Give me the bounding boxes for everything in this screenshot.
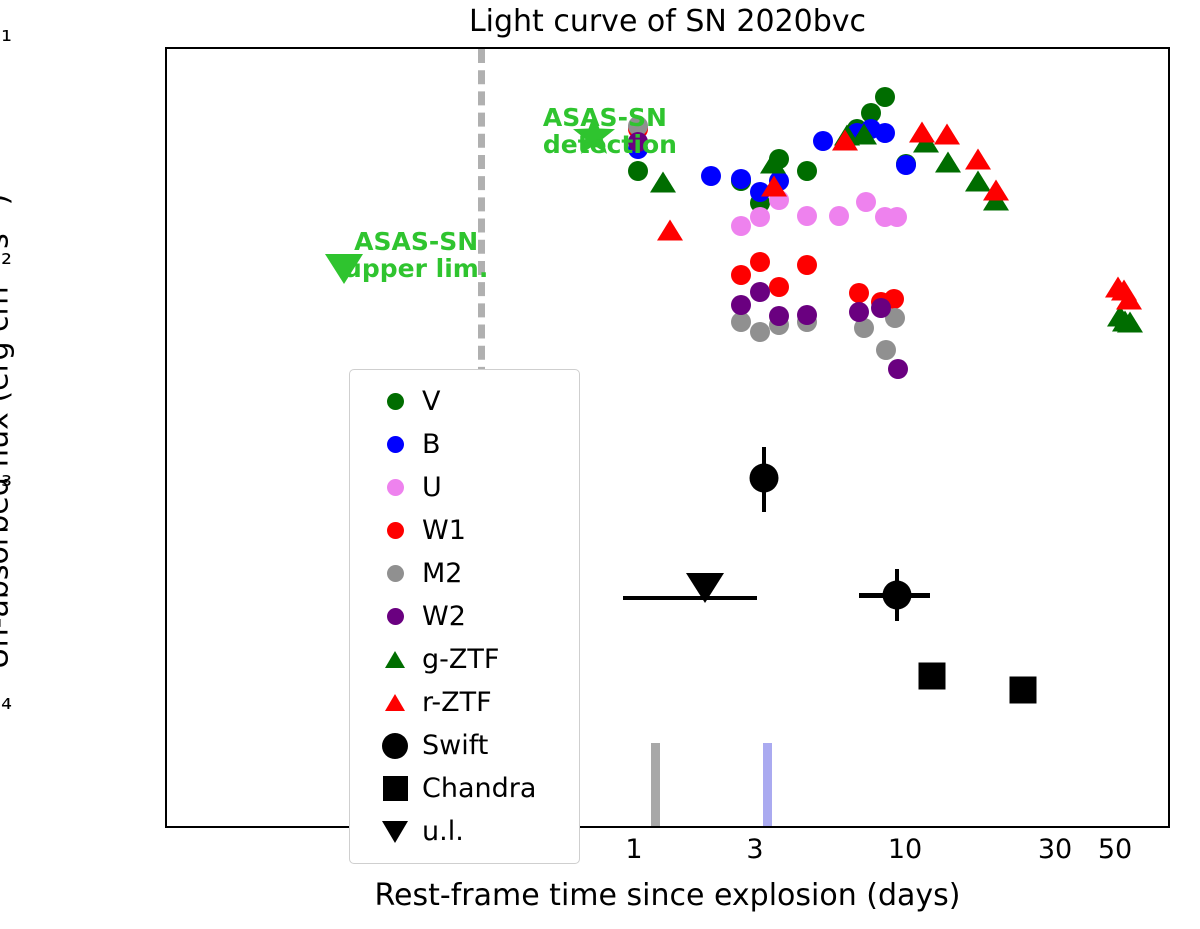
legend-item-label: M2 bbox=[422, 558, 462, 589]
data-point-Chandra bbox=[918, 663, 945, 690]
data-point-Swift bbox=[749, 464, 778, 493]
x-tick-label: 1 bbox=[625, 836, 642, 863]
data-point-B bbox=[731, 169, 751, 189]
data-point-M2 bbox=[731, 312, 751, 332]
legend-item-label: Swift bbox=[422, 730, 488, 761]
legend-glyph bbox=[387, 522, 404, 539]
legend-item-label: V bbox=[422, 386, 440, 417]
light-curve-figure: Light curve of SN 2020bvc Un-absorbed fl… bbox=[0, 0, 1200, 929]
data-point-W1 bbox=[849, 283, 869, 303]
legend-item-label: Chandra bbox=[422, 773, 536, 804]
legend-marker-circle-icon bbox=[368, 479, 422, 496]
y-tick-label: 10⁻¹¹ bbox=[0, 28, 12, 55]
data-point-r-ZTF bbox=[983, 179, 1009, 200]
data-point-r-ZTF bbox=[965, 148, 991, 169]
legend-item-label: B bbox=[422, 429, 441, 460]
chandra-obs-bar bbox=[763, 743, 772, 826]
legend-item-label: W2 bbox=[422, 601, 466, 632]
data-point-g-ZTF bbox=[650, 171, 676, 192]
data-point-W2 bbox=[871, 298, 891, 318]
data-point-W1 bbox=[797, 255, 817, 275]
legend-item-label: g-ZTF bbox=[422, 644, 499, 675]
y-axis-label: Un-absorbed flux (erg cm⁻² s⁻¹) bbox=[0, 0, 16, 882]
data-point-U bbox=[731, 216, 751, 236]
data-point-r-ZTF bbox=[657, 219, 683, 240]
data-point-U bbox=[750, 207, 770, 227]
legend-marker-triangle-up-icon bbox=[368, 651, 422, 668]
legend-item-m2[interactable]: M2 bbox=[350, 552, 579, 595]
asassn-upper-limit: ASAS-SN upper lim. bbox=[344, 229, 488, 283]
legend-glyph bbox=[385, 651, 405, 668]
legend-item-chandra[interactable]: Chandra bbox=[350, 767, 579, 810]
legend-item-v[interactable]: V bbox=[350, 380, 579, 423]
legend-item-r-ztf[interactable]: r-ZTF bbox=[350, 681, 579, 724]
legend-item-u[interactable]: U bbox=[350, 466, 579, 509]
data-point-W2 bbox=[750, 282, 770, 302]
legend-glyph bbox=[385, 694, 405, 711]
data-point-W1 bbox=[750, 252, 770, 272]
data-point-W1 bbox=[731, 265, 751, 285]
data-point-u.l. bbox=[686, 573, 724, 603]
legend-glyph bbox=[387, 608, 404, 625]
legend-glyph bbox=[383, 776, 408, 801]
legend-marker-circle-icon bbox=[368, 608, 422, 625]
data-point-M2 bbox=[750, 322, 770, 342]
data-point-W2 bbox=[769, 306, 789, 326]
x-tick-label: 50 bbox=[1098, 836, 1132, 863]
data-point-W1 bbox=[769, 277, 789, 297]
data-point-r-ZTF bbox=[1116, 288, 1142, 309]
asassn-detection: ASAS-SN detection bbox=[543, 105, 677, 159]
legend-item-label: W1 bbox=[422, 515, 466, 546]
legend-item-label: U bbox=[422, 472, 442, 503]
legend-marker-triangle-down-icon bbox=[368, 821, 422, 843]
data-point-B bbox=[701, 166, 721, 186]
data-point-W2 bbox=[731, 295, 751, 315]
data-point-Chandra bbox=[1009, 676, 1036, 703]
data-point-U bbox=[829, 206, 849, 226]
legend-marker-triangle-up-icon bbox=[368, 694, 422, 711]
data-point-W2 bbox=[797, 305, 817, 325]
y-tick-label: 10⁻¹⁴ bbox=[0, 696, 12, 723]
legend-glyph bbox=[387, 565, 404, 582]
legend-item-label: u.l. bbox=[422, 816, 464, 847]
data-point-g-ZTF bbox=[935, 151, 961, 172]
y-tick-label: 10⁻¹³ bbox=[0, 473, 12, 500]
legend-glyph bbox=[382, 821, 408, 843]
data-point-r-ZTF bbox=[832, 129, 858, 150]
legend-item-w1[interactable]: W1 bbox=[350, 509, 579, 552]
legend-item-label: r-ZTF bbox=[422, 687, 492, 718]
y-tick-label: 10⁻¹² bbox=[0, 251, 12, 278]
data-point-B bbox=[875, 123, 895, 143]
legend-marker-circle-icon bbox=[368, 522, 422, 539]
legend-item-g-ztf[interactable]: g-ZTF bbox=[350, 638, 579, 681]
legend-marker-circle-icon bbox=[368, 393, 422, 410]
x-tick-label: 3 bbox=[746, 836, 763, 863]
page-title: Light curve of SN 2020bvc bbox=[165, 4, 1170, 39]
plot-area: February 4.0 UT ASAS-SN detectionASAS-SN… bbox=[167, 49, 1168, 826]
legend-glyph bbox=[387, 479, 404, 496]
data-point-V bbox=[797, 161, 817, 181]
data-point-M2 bbox=[876, 340, 896, 360]
legend-marker-circle-icon bbox=[368, 733, 422, 759]
legend-item-b[interactable]: B bbox=[350, 423, 579, 466]
data-point-r-ZTF bbox=[761, 176, 787, 197]
legend-marker-square-icon bbox=[368, 776, 422, 801]
legend-item-u-l-[interactable]: u.l. bbox=[350, 810, 579, 853]
data-point-Swift bbox=[882, 581, 911, 610]
legend-glyph bbox=[387, 393, 404, 410]
data-point-V bbox=[628, 161, 648, 181]
data-point-W2 bbox=[888, 359, 908, 379]
x-tick-label: 30 bbox=[1038, 836, 1072, 863]
x-tick-label: 10 bbox=[888, 836, 922, 863]
data-point-g-ZTF bbox=[1117, 311, 1143, 332]
x-axis-label: Rest-frame time since explosion (days) bbox=[165, 878, 1170, 913]
data-point-r-ZTF bbox=[934, 124, 960, 145]
data-point-r-ZTF bbox=[909, 122, 935, 143]
data-point-W2 bbox=[849, 302, 869, 322]
data-point-B bbox=[896, 155, 916, 175]
data-point-U bbox=[797, 206, 817, 226]
legend-glyph bbox=[382, 733, 408, 759]
legend-item-w2[interactable]: W2 bbox=[350, 595, 579, 638]
legend[interactable]: VBUW1M2W2g-ZTFr-ZTFSwiftChandrau.l. bbox=[349, 369, 580, 864]
data-point-U bbox=[887, 207, 907, 227]
data-point-B bbox=[813, 131, 833, 151]
legend-item-swift[interactable]: Swift bbox=[350, 724, 579, 767]
legend-glyph bbox=[387, 436, 404, 453]
data-point-U bbox=[856, 192, 876, 212]
data-point-V bbox=[875, 87, 895, 107]
plot-frame: February 4.0 UT ASAS-SN detectionASAS-SN… bbox=[165, 47, 1170, 828]
legend-marker-circle-icon bbox=[368, 565, 422, 582]
swift-obs-bar bbox=[651, 743, 660, 826]
data-point-g-ZTF bbox=[760, 153, 786, 174]
legend-marker-circle-icon bbox=[368, 436, 422, 453]
